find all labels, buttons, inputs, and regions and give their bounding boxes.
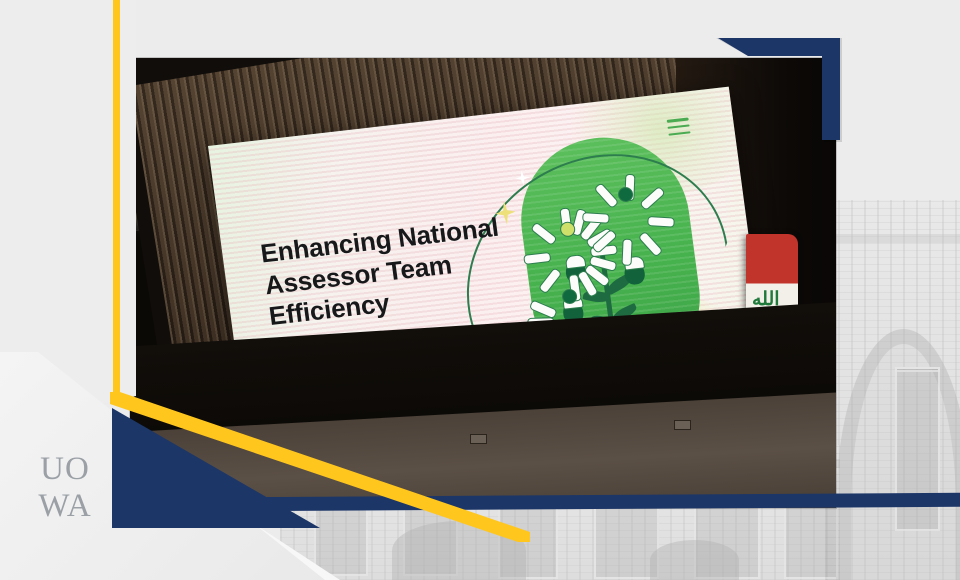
- hamburger-icon: [667, 117, 691, 135]
- logo-line-2: WA: [26, 488, 104, 524]
- campus-building-watermark-right: [825, 200, 960, 580]
- logo-line-1: UO: [26, 452, 104, 486]
- page-canvas: Enhancing National Assessor Team Efficie…: [0, 0, 960, 580]
- yellow-accent-stripe-vertical: [113, 0, 120, 400]
- daisy-flower: [597, 167, 651, 220]
- uowa-logo: UO WA: [26, 452, 104, 526]
